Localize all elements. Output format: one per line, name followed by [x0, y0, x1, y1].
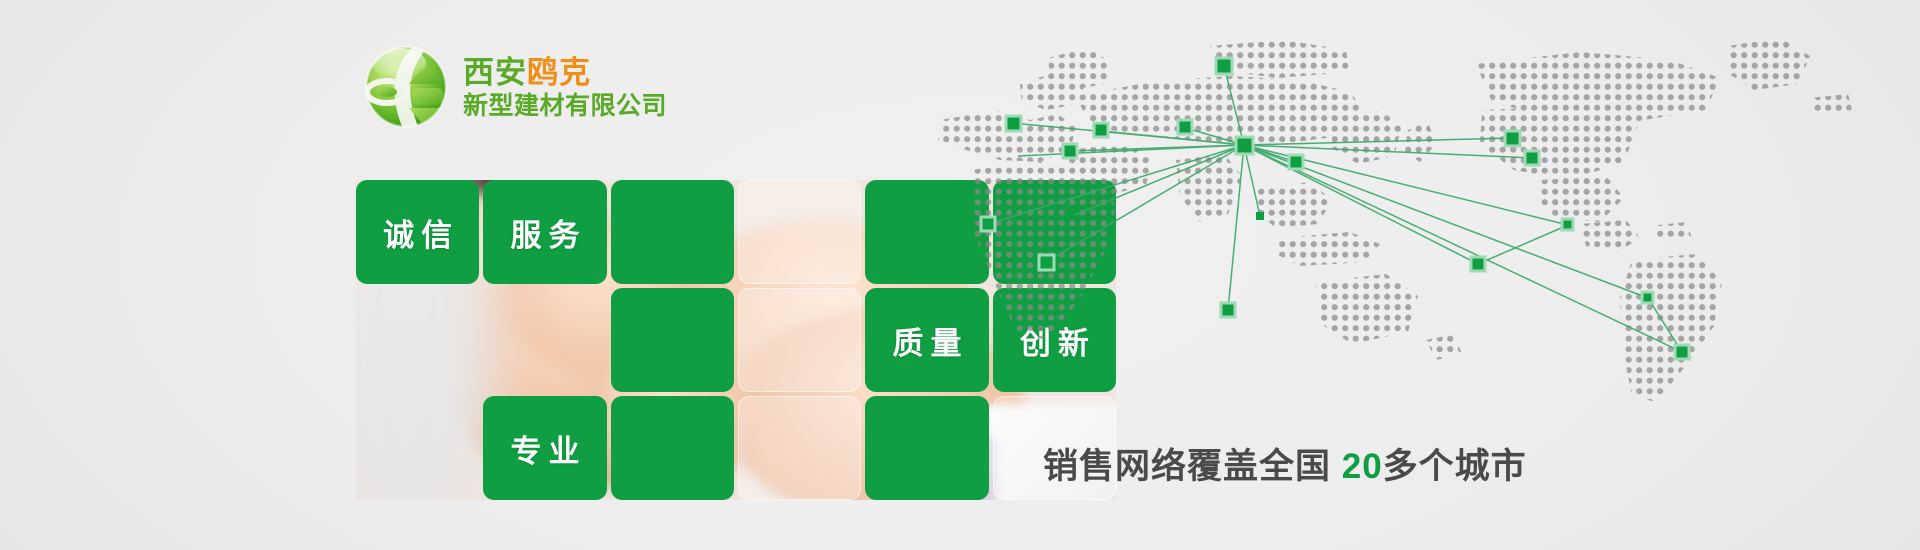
mosaic-tile-r2c3[interactable] [611, 288, 734, 392]
logo-city-text: 西安 [463, 55, 527, 90]
mosaic-gap-r3c1 [356, 396, 479, 500]
green-globe-logo-icon [363, 44, 449, 130]
mosaic-tile-r1c3[interactable] [611, 180, 734, 284]
tagline-suffix: 多个城市 [1383, 447, 1527, 486]
sales-network-tagline: 销售网络覆盖全国 20多个城市 [1043, 438, 1527, 489]
mosaic-tile-zhuanye[interactable]: 专业 [483, 396, 606, 500]
logo-company-name-line2: 新型建材有限公司 [463, 92, 667, 121]
mosaic-tile-label: 诚信 [356, 180, 479, 284]
mosaic-tile-r2c4[interactable] [738, 288, 861, 392]
logo-company-name-line1: 西安鸥克 [463, 55, 667, 91]
mosaic-gap-r2c1 [356, 288, 479, 392]
logo-brand-text: 鸥克 [527, 55, 591, 90]
tagline-highlight-number: 20 [1342, 447, 1383, 486]
mosaic-tile-chengxin[interactable]: 诚信 [356, 180, 479, 284]
mosaic-tile-r3c4[interactable] [738, 396, 861, 500]
logo-wordmark: 西安鸥克 新型建材有限公司 [463, 53, 667, 122]
tagline-prefix: 销售网络覆盖全国 [1043, 447, 1342, 486]
company-logo[interactable]: 西安鸥克 新型建材有限公司 [363, 44, 667, 130]
mosaic-tile-label: 专业 [483, 396, 606, 500]
map-dot-landmass [880, 10, 1920, 430]
company-banner: 西安鸥克 新型建材有限公司 [0, 0, 1920, 550]
mosaic-tile-r3c3[interactable] [611, 396, 734, 500]
mosaic-tile-fuwu[interactable]: 服务 [483, 180, 606, 284]
world-network-map [880, 10, 1920, 430]
map-hub-node [1236, 137, 1253, 154]
mosaic-tile-r1c4[interactable] [738, 180, 861, 284]
mosaic-gap-r2c2 [483, 288, 606, 392]
mosaic-tile-label: 服务 [483, 180, 606, 284]
